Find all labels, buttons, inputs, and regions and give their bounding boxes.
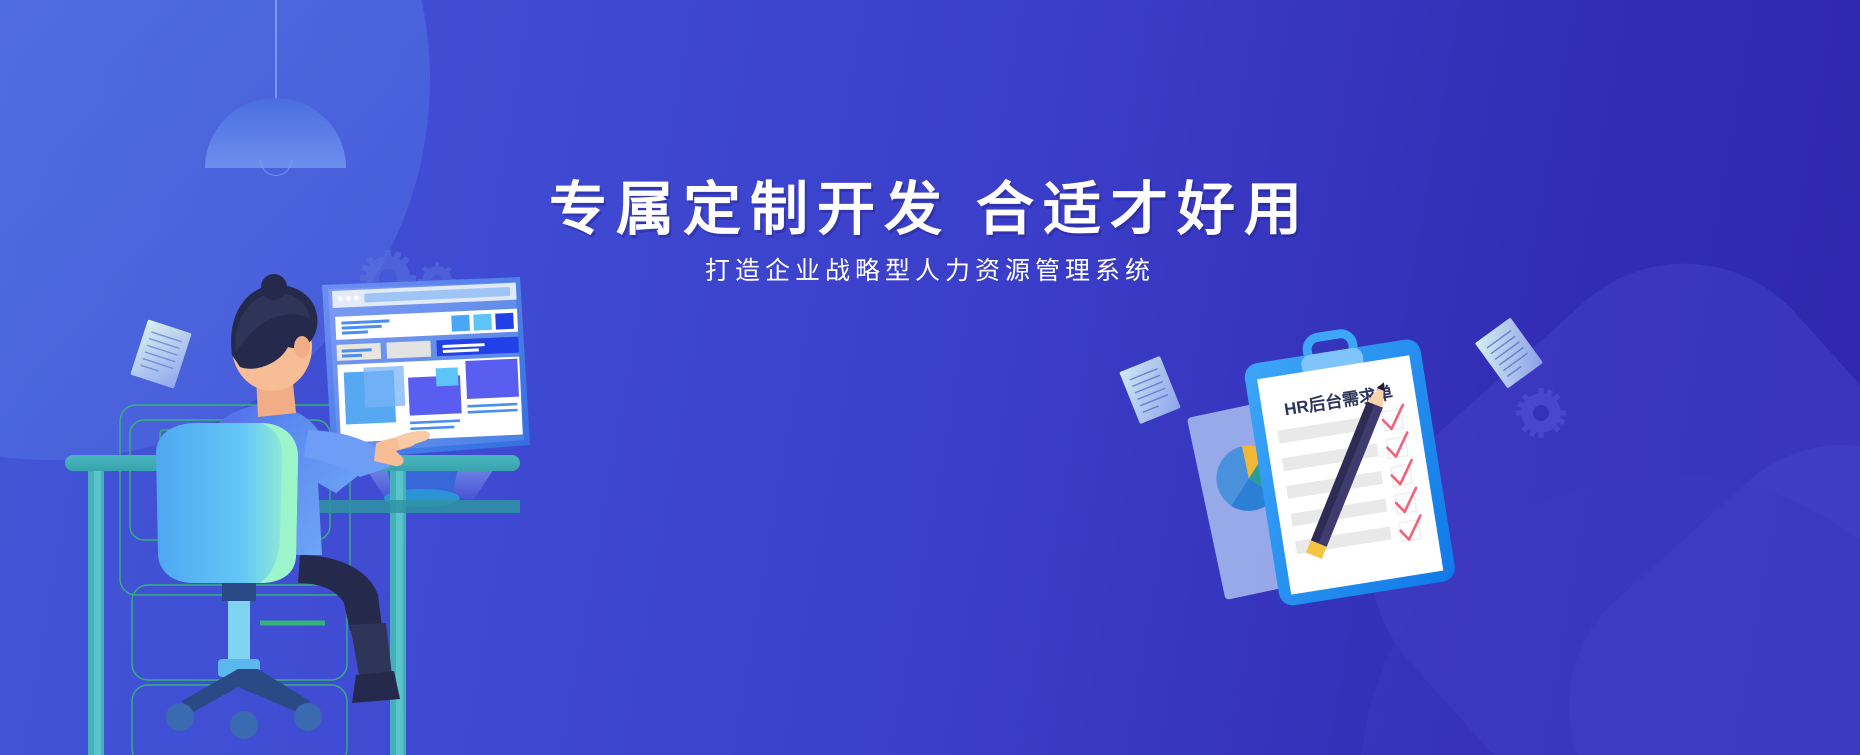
doc-center-icon [1119, 356, 1181, 424]
lamp-cord [275, 0, 277, 100]
banner-headline: 专属定制开发 合适才好用 [549, 178, 1311, 242]
illustration-person-at-desk [60, 255, 680, 755]
office-chair [156, 423, 322, 739]
hr-promo-banner: 专属定制开发 合适才好用 打造企业战略型人力资源管理系统 [0, 0, 1860, 755]
lamp-shade [205, 98, 346, 168]
gear-right-icon [1516, 388, 1566, 438]
banner-subtitle: 打造企业战略型人力资源管理系统 [705, 255, 1155, 288]
person-leg [298, 555, 400, 703]
pendant-lamp-icon [205, 0, 355, 170]
illustration-clipboard-requirements: HR后台需求单 [1180, 320, 1510, 630]
